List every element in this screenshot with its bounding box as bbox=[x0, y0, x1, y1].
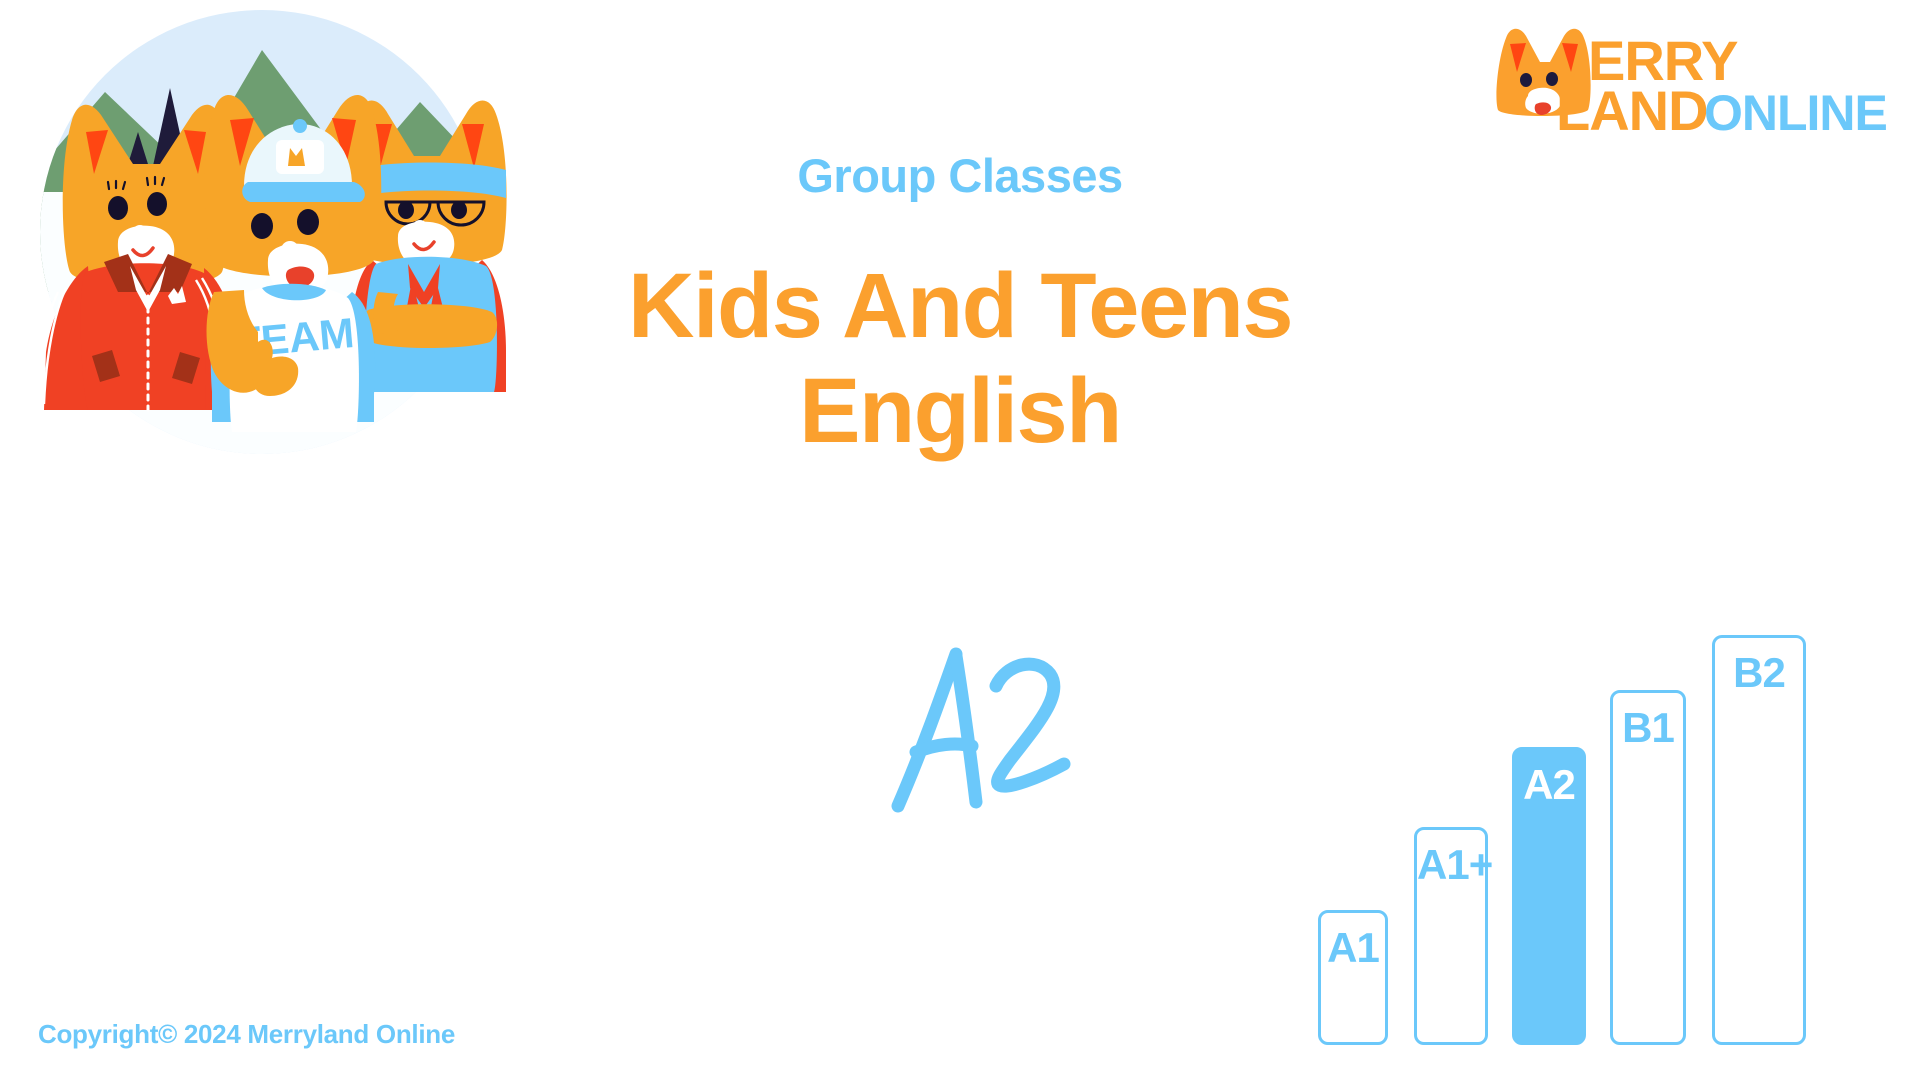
fox-middle-eye-right bbox=[297, 209, 319, 235]
fox-right-nose bbox=[412, 220, 428, 236]
level-bar-label-a1: A1 bbox=[1321, 927, 1385, 969]
page-title-line-1: Kids And Teens bbox=[520, 254, 1400, 360]
copyright-notice: Copyright© 2024 Merryland Online bbox=[38, 1019, 455, 1050]
fox-middle-eye-left bbox=[251, 213, 273, 239]
page-title: Kids And Teens English bbox=[520, 254, 1400, 466]
logo-word-land: LAND bbox=[1556, 79, 1708, 136]
cefr-level-chart: A1 A1+ A2 B1 B2 bbox=[1318, 540, 1898, 1045]
level-bar-a1-plus[interactable]: A1+ bbox=[1414, 827, 1488, 1045]
fox-mascots-illustration: TEAM bbox=[0, 0, 520, 472]
level-bar-label-a2: A2 bbox=[1515, 764, 1583, 806]
fox-right-eye-left bbox=[398, 201, 414, 219]
fox-middle-cap-button bbox=[293, 119, 307, 133]
hero-eyebrow: Group Classes bbox=[520, 150, 1400, 202]
hero-text-block: Group Classes Kids And Teens English bbox=[520, 150, 1400, 465]
page-title-line-2: English bbox=[520, 359, 1400, 465]
logo-word-online: ONLINE bbox=[1704, 85, 1887, 136]
level-script-mark bbox=[860, 630, 1100, 820]
level-bar-label-a1-plus: A1+ bbox=[1417, 844, 1485, 886]
level-bar-b2[interactable]: B2 bbox=[1712, 635, 1806, 1045]
slide-canvas: TEAM ERRY LAND ONLINE bbox=[0, 0, 1920, 1080]
level-script-strokes bbox=[898, 654, 1064, 806]
fox-middle-nose bbox=[281, 241, 299, 259]
merryland-online-logo[interactable]: ERRY LAND ONLINE bbox=[1492, 18, 1892, 136]
fox-left-nose bbox=[132, 225, 148, 241]
fox-left-eye-left bbox=[108, 196, 128, 220]
level-bar-a1[interactable]: A1 bbox=[1318, 910, 1388, 1045]
fox-left-eye-right bbox=[147, 192, 167, 216]
brand-logo-svg: ERRY LAND ONLINE bbox=[1492, 18, 1892, 136]
fox-middle: TEAM bbox=[205, 95, 382, 432]
level-bar-b1[interactable]: B1 bbox=[1610, 690, 1686, 1045]
level-bar-label-b1: B1 bbox=[1613, 707, 1683, 749]
fox-middle-cap-brim bbox=[242, 182, 365, 202]
fox-right-eye-right bbox=[451, 201, 467, 219]
level-script-svg bbox=[860, 630, 1100, 820]
level-bar-a2[interactable]: A2 bbox=[1512, 747, 1586, 1045]
level-bar-label-b2: B2 bbox=[1715, 652, 1803, 694]
mascots-svg: TEAM bbox=[0, 0, 520, 472]
